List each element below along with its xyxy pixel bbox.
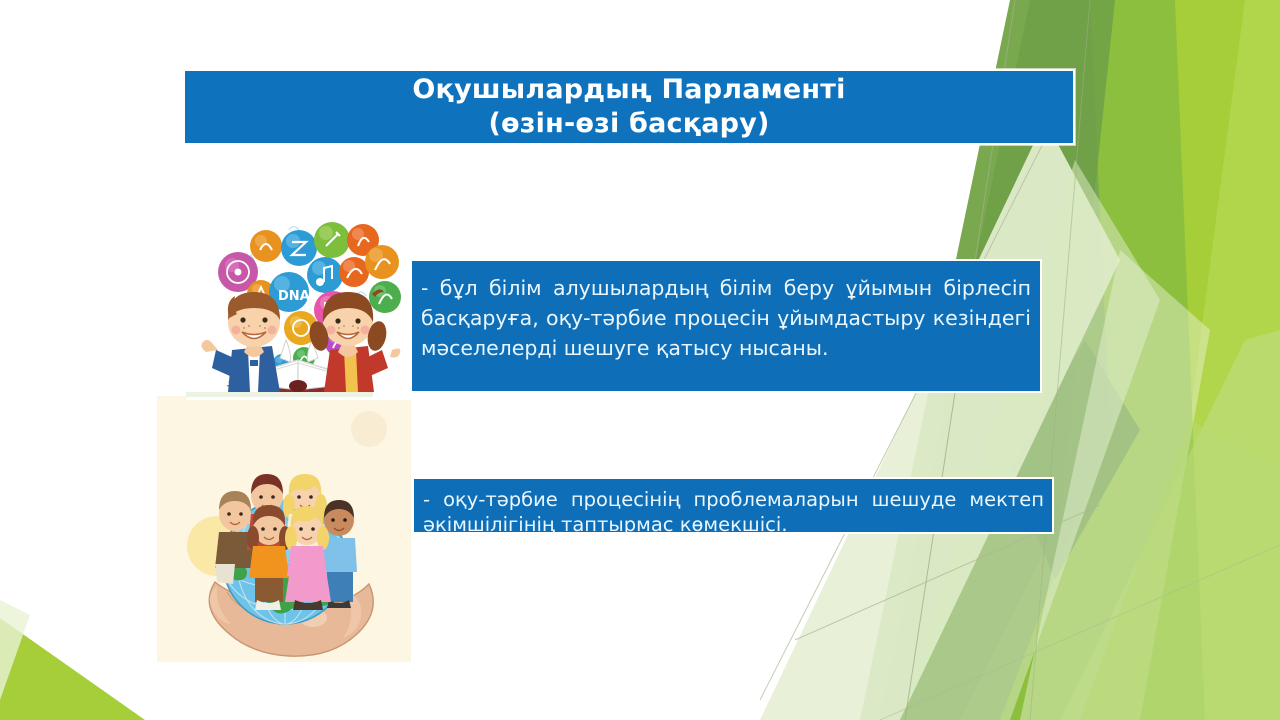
facet-shape-light-band-2	[1080, 420, 1280, 720]
content-textbox-2-text: - оқу-тәрбие процесінің проблемаларын ше…	[423, 487, 1044, 537]
facet-shape-pale-diagonal	[760, 120, 1120, 720]
slide-title-line-2: (өзін-өзі басқару)	[488, 107, 769, 141]
svg-text:DNA: DNA	[278, 289, 310, 304]
slide-title-banner: Оқушылардың Парламенті (өзін-өзі басқару…	[183, 69, 1075, 145]
facet-shape-light-band	[1060, 330, 1280, 720]
facet-shape-bright-right-2	[1150, 0, 1280, 720]
facet-hairline-5	[880, 545, 1280, 720]
content-textbox-1: - бұл білім алушылардың білім беру ұйымы…	[410, 259, 1042, 393]
picture-divider-line	[186, 392, 373, 397]
slide-title-line-1: Оқушылардың Парламенті	[412, 73, 845, 107]
content-textbox-1-text: - бұл білім алушылардың білім беру ұйымы…	[421, 273, 1031, 363]
picture-kids-with-book: -5x+6 ÷2+2	[186, 200, 414, 400]
content-textbox-2: - оқу-тәрбие процесінің проблемаларын ше…	[412, 477, 1054, 534]
picture-kids-on-globe-in-hands	[157, 396, 411, 662]
presentation-slide: Оқушылардың Парламенті (өзін-өзі басқару…	[0, 0, 1280, 720]
facet-shape-bottom-left-triangle	[0, 618, 145, 720]
facet-shape-pale-diagonal-2	[900, 160, 1160, 720]
facet-shape-bottom-left-pale	[0, 600, 30, 700]
sun-circle-small	[351, 411, 387, 447]
facet-hairline-3	[760, 120, 1055, 700]
